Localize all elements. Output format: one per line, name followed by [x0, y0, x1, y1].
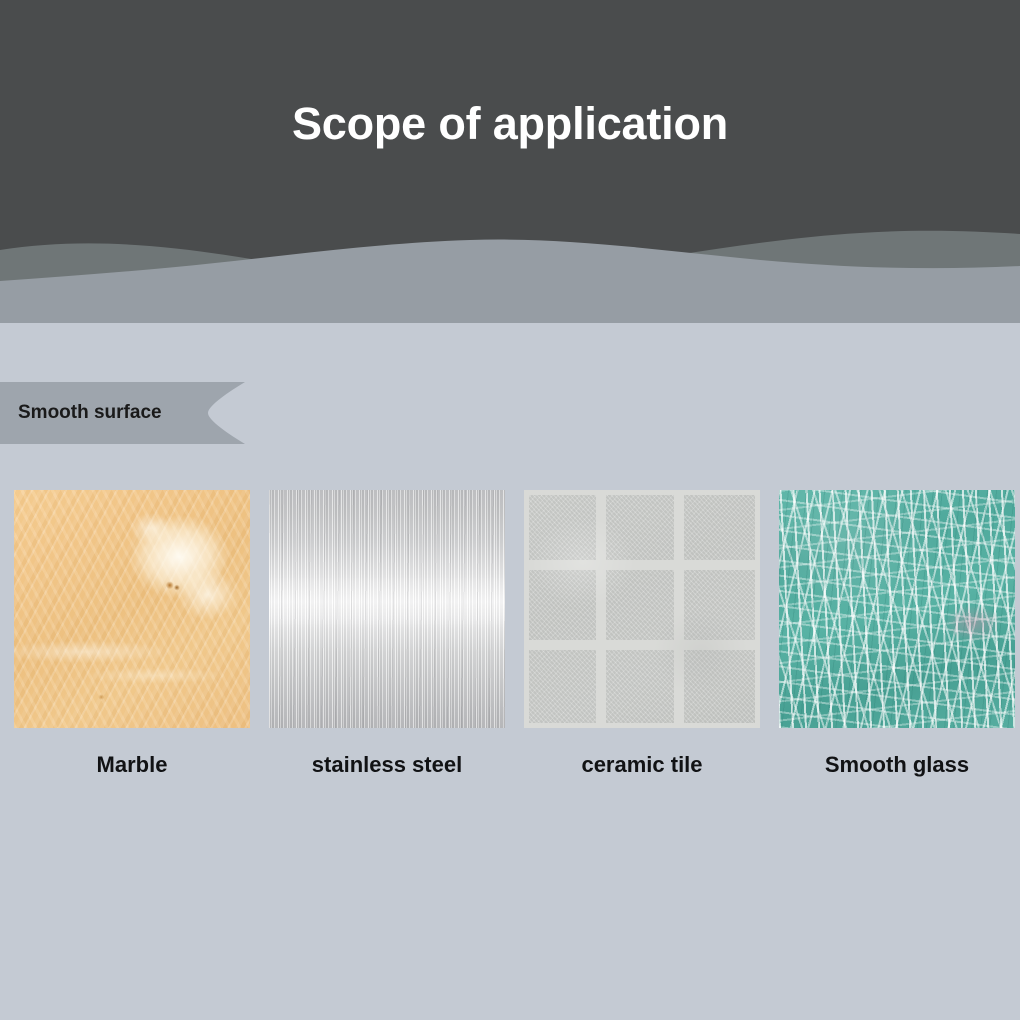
ceramic-tile-texture-image [524, 490, 760, 728]
product-info-slide: Scope of application Smooth surface Marb… [0, 0, 1020, 1020]
swatch-item-stainless-steel: stainless steel [269, 490, 505, 790]
swatch-label-ceramic-tile: ceramic tile [581, 752, 702, 778]
swatch-item-marble: Marble [14, 490, 250, 790]
swatch-label-marble: Marble [97, 752, 168, 778]
crackled-glass-texture-image [779, 490, 1015, 728]
section-ribbon-label: Smooth surface [18, 382, 162, 444]
section-ribbon: Smooth surface [0, 382, 250, 444]
hero-bottom-edge [0, 323, 1020, 330]
swatch-item-smooth-glass: Smooth glass [779, 490, 1015, 790]
swatch-item-ceramic-tile: ceramic tile [524, 490, 760, 790]
hero-header: Scope of application [0, 0, 1020, 330]
hero-wave-background [0, 0, 1020, 330]
swatch-label-stainless-steel: stainless steel [312, 752, 462, 778]
page-title: Scope of application [0, 96, 1020, 152]
brushed-steel-texture-image [269, 490, 505, 728]
material-swatch-row: Marble stainless steel ceramic tile Smoo… [14, 490, 1006, 790]
marble-texture-image [14, 490, 250, 728]
swatch-label-smooth-glass: Smooth glass [825, 752, 969, 778]
